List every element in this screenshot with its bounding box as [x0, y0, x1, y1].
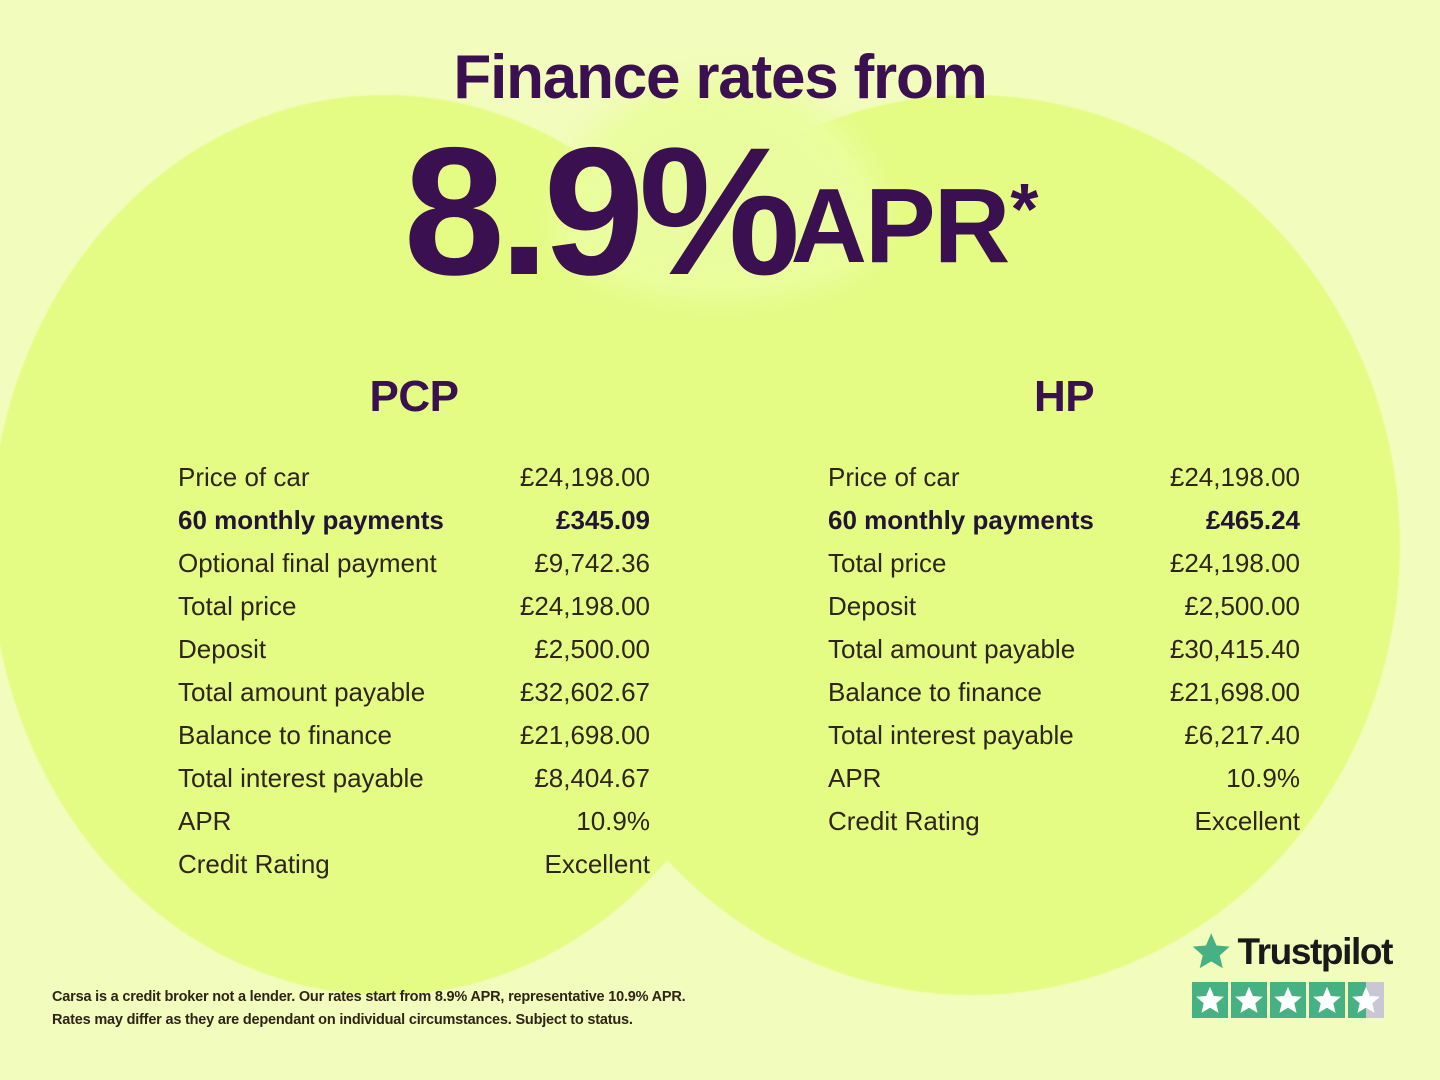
finance-row: Total interest payable£8,404.67 — [178, 763, 650, 806]
finance-row-value: £2,500.00 — [534, 634, 650, 665]
finance-row-value: £6,217.40 — [1184, 720, 1300, 751]
finance-row-label: Optional final payment — [178, 548, 437, 579]
disclaimer-text: Carsa is a credit broker not a lender. O… — [52, 986, 812, 1033]
finance-row-label: Credit Rating — [828, 806, 980, 837]
finance-row-value: £21,698.00 — [520, 720, 650, 751]
rate-number: 8.9% — [404, 109, 795, 313]
finance-row-value: £21,698.00 — [1170, 677, 1300, 708]
trustpilot-star-full — [1192, 982, 1228, 1018]
trustpilot-star-icon — [1192, 931, 1230, 971]
plan-rows-pcp: Price of car£24,198.0060 monthly payment… — [178, 462, 650, 892]
finance-row-label: Total price — [828, 548, 947, 579]
finance-row: Price of car£24,198.00 — [178, 462, 650, 505]
finance-row: Credit RatingExcellent — [178, 849, 650, 892]
finance-row-label: Credit Rating — [178, 849, 330, 880]
rate-asterisk: * — [1010, 170, 1038, 250]
finance-row: Total interest payable£6,217.40 — [828, 720, 1300, 763]
finance-row: Price of car£24,198.00 — [828, 462, 1300, 505]
finance-row: Credit RatingExcellent — [828, 806, 1300, 849]
finance-row-label: Total interest payable — [828, 720, 1074, 751]
trustpilot-star-full — [1309, 982, 1345, 1018]
finance-row-value: Excellent — [545, 849, 651, 880]
trustpilot-star-full — [1270, 982, 1306, 1018]
finance-row-label: Total amount payable — [178, 677, 425, 708]
plan-title-pcp: PCP — [178, 372, 650, 422]
plan-card-hp: HP Price of car£24,198.0060 monthly paym… — [828, 372, 1300, 849]
finance-row: Balance to finance£21,698.00 — [178, 720, 650, 763]
finance-row-value: £24,198.00 — [520, 462, 650, 493]
finance-row: Total price£24,198.00 — [828, 548, 1300, 591]
finance-row-label: APR — [178, 806, 231, 837]
disclaimer-line-2: Rates may differ as they are dependant o… — [52, 1009, 812, 1032]
page-headline: Finance rates from — [0, 42, 1440, 113]
trustpilot-star-full — [1231, 982, 1267, 1018]
finance-row: Deposit£2,500.00 — [178, 634, 650, 677]
finance-row-label: Deposit — [178, 634, 266, 665]
finance-row-value: £32,602.67 — [520, 677, 650, 708]
trustpilot-badge[interactable]: Trustpilot — [1192, 928, 1392, 1018]
finance-row-value: £2,500.00 — [1184, 591, 1300, 622]
finance-row-value: £9,742.36 — [534, 548, 650, 579]
finance-row-label: Total interest payable — [178, 763, 424, 794]
trustpilot-logo: Trustpilot — [1192, 928, 1392, 974]
finance-row-value: £30,415.40 — [1170, 634, 1300, 665]
rate-unit: APR — [791, 167, 1009, 285]
finance-row-value: £24,198.00 — [1170, 548, 1300, 579]
finance-row: Deposit£2,500.00 — [828, 591, 1300, 634]
disclaimer-line-1: Carsa is a credit broker not a lender. O… — [52, 986, 812, 1009]
finance-row: APR10.9% — [828, 763, 1300, 806]
finance-row-value: £8,404.67 — [534, 763, 650, 794]
trustpilot-star-half — [1348, 982, 1384, 1018]
plan-title-hp: HP — [828, 372, 1300, 422]
finance-row: 60 monthly payments£345.09 — [178, 505, 650, 548]
trustpilot-star-rating — [1192, 982, 1392, 1018]
headline-rate: 8.9%APR* — [0, 120, 1440, 302]
finance-row-value: 10.9% — [1226, 763, 1300, 794]
plan-card-pcp: PCP Price of car£24,198.0060 monthly pay… — [178, 372, 650, 892]
finance-row-value: Excellent — [1195, 806, 1301, 837]
finance-row: Optional final payment£9,742.36 — [178, 548, 650, 591]
finance-row-label: Total amount payable — [828, 634, 1075, 665]
finance-row-value: 10.9% — [576, 806, 650, 837]
finance-row: 60 monthly payments£465.24 — [828, 505, 1300, 548]
finance-row-label: Price of car — [828, 462, 960, 493]
plan-rows-hp: Price of car£24,198.0060 monthly payment… — [828, 462, 1300, 849]
finance-row: Total amount payable£32,602.67 — [178, 677, 650, 720]
finance-row: APR10.9% — [178, 806, 650, 849]
finance-row-label: Balance to finance — [828, 677, 1042, 708]
finance-row-label: 60 monthly payments — [178, 505, 444, 536]
finance-row: Total amount payable£30,415.40 — [828, 634, 1300, 677]
finance-row: Total price£24,198.00 — [178, 591, 650, 634]
finance-row-value: £24,198.00 — [520, 591, 650, 622]
finance-row-label: Total price — [178, 591, 297, 622]
finance-row-label: 60 monthly payments — [828, 505, 1094, 536]
finance-row-value: £465.24 — [1206, 505, 1300, 536]
finance-row: Balance to finance£21,698.00 — [828, 677, 1300, 720]
finance-row-label: Price of car — [178, 462, 310, 493]
finance-row-label: Deposit — [828, 591, 916, 622]
trustpilot-wordmark: Trustpilot — [1237, 933, 1392, 970]
finance-row-value: £345.09 — [556, 505, 650, 536]
finance-row-value: £24,198.00 — [1170, 462, 1300, 493]
finance-row-label: Balance to finance — [178, 720, 392, 751]
finance-row-label: APR — [828, 763, 881, 794]
